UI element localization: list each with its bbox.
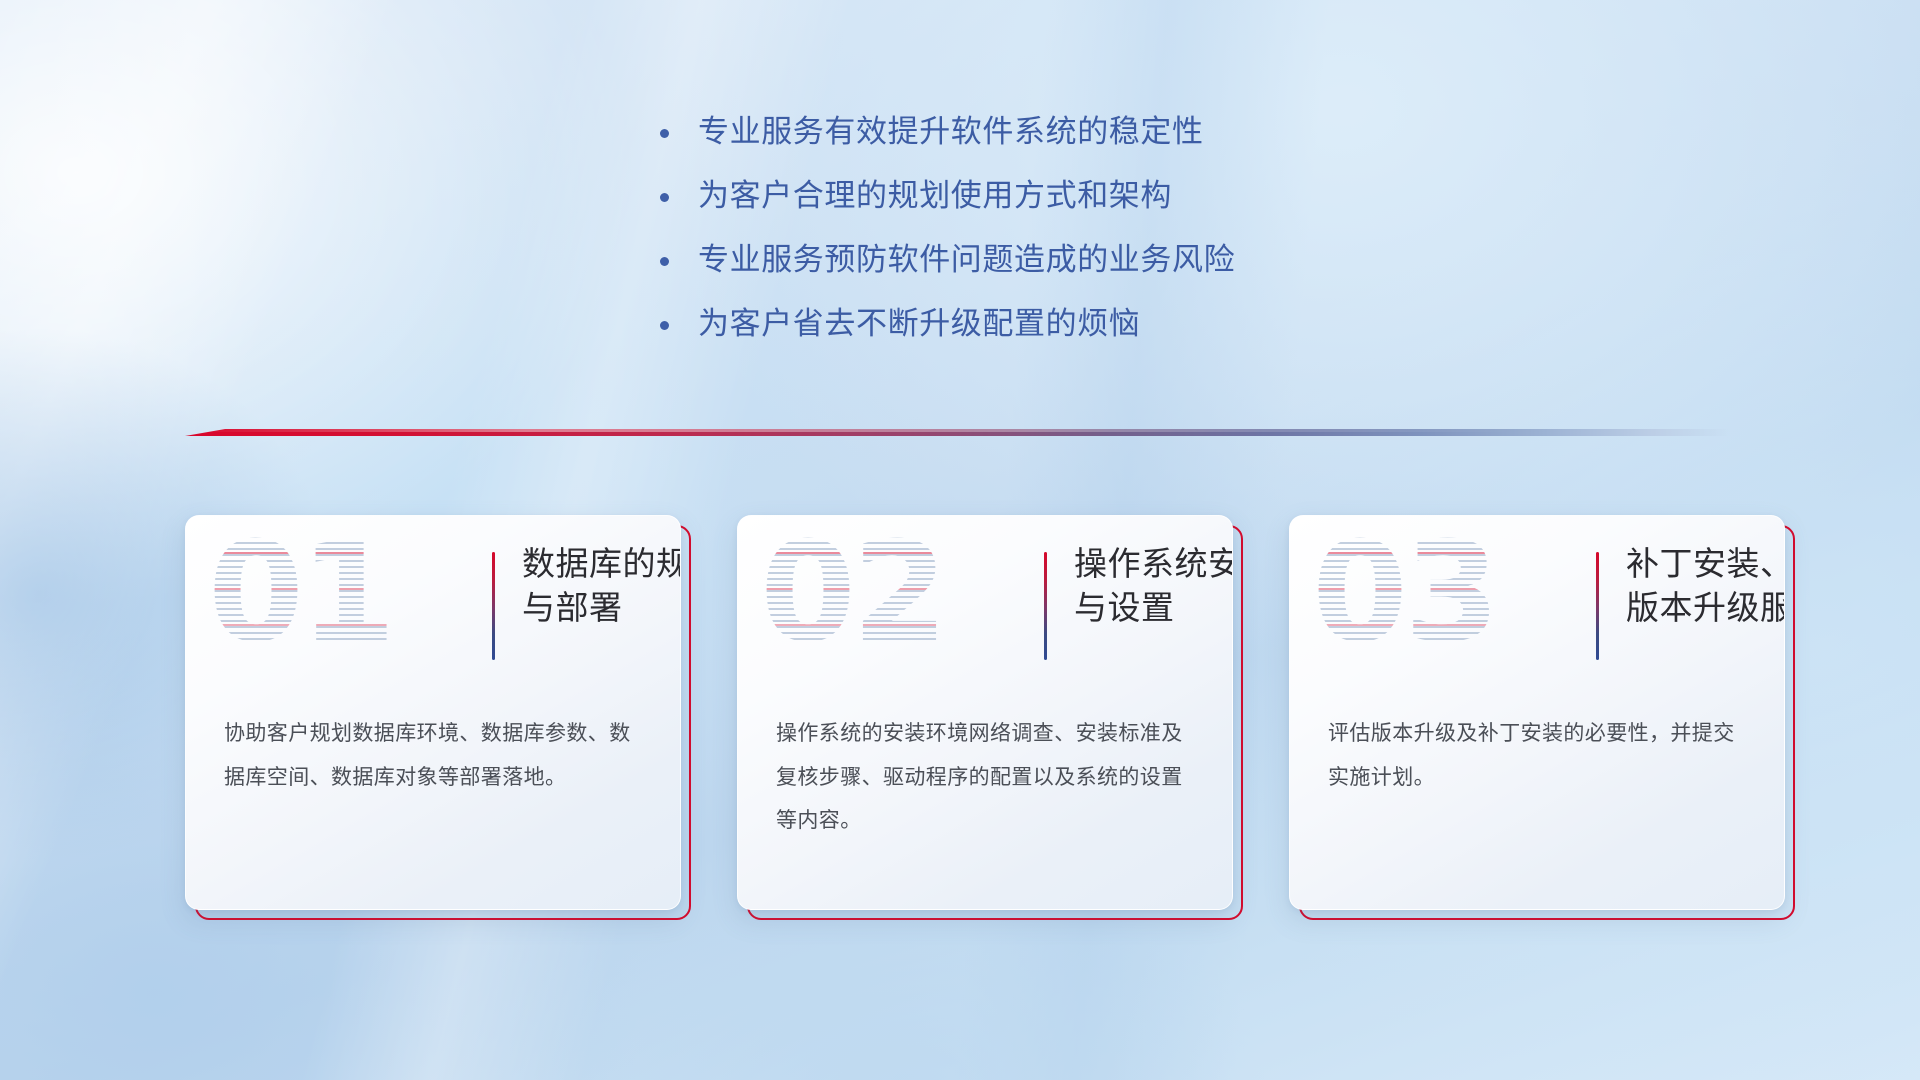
- title-divider-icon: [492, 552, 495, 660]
- title-divider-icon: [1596, 552, 1599, 660]
- section-divider: [185, 424, 1730, 442]
- bullet-dot-icon: [660, 193, 669, 202]
- bullet-text: 专业服务预防软件问题造成的业务风险: [698, 240, 1235, 279]
- card-description: 协助客户规划数据库环境、数据库参数、数据库空间、数据库对象等部署落地。: [224, 712, 644, 799]
- card-description: 操作系统的安装环境网络调查、安装标准及复核步骤、驱动程序的配置以及系统的设置等内…: [776, 712, 1196, 843]
- bullet-text: 专业服务有效提升软件系统的稳定性: [698, 112, 1204, 151]
- card-number-ghost-accent: 01: [208, 524, 392, 662]
- card-header: 03 03 补丁安装、小版本升级服务: [1290, 516, 1784, 698]
- service-card[interactable]: 02 02 操作系统安装与设置 操作系统的安装环境网络调查、安装标准及复核步骤、…: [737, 515, 1233, 910]
- card-header: 01 01 数据库的规划与部署: [186, 516, 680, 698]
- list-item: 专业服务有效提升软件系统的稳定性: [660, 112, 1235, 151]
- card-surface: 01 01 数据库的规划与部署 协助客户规划数据库环境、数据库参数、数据库空间、…: [185, 515, 681, 910]
- bullet-text: 为客户省去不断升级配置的烦恼: [698, 304, 1140, 343]
- service-card[interactable]: 03 03 补丁安装、小版本升级服务 评估版本升级及补丁安装的必要性，并提交实施…: [1289, 515, 1785, 910]
- slide-canvas: 专业服务有效提升软件系统的稳定性 为客户合理的规划使用方式和架构 专业服务预防软…: [0, 0, 1920, 1080]
- list-item: 为客户省去不断升级配置的烦恼: [660, 304, 1235, 343]
- benefits-bullet-list: 专业服务有效提升软件系统的稳定性 为客户合理的规划使用方式和架构 专业服务预防软…: [660, 112, 1235, 368]
- card-title: 数据库的规划与部署: [522, 542, 681, 629]
- bullet-dot-icon: [660, 321, 669, 330]
- title-divider-icon: [1044, 552, 1047, 660]
- card-title: 操作系统安装与设置: [1074, 542, 1233, 629]
- card-title: 补丁安装、小版本升级服务: [1626, 542, 1785, 629]
- card-surface: 02 02 操作系统安装与设置 操作系统的安装环境网络调查、安装标准及复核步骤、…: [737, 515, 1233, 910]
- service-card-row: 01 01 数据库的规划与部署 协助客户规划数据库环境、数据库参数、数据库空间、…: [185, 515, 1785, 910]
- card-description: 评估版本升级及补丁安装的必要性，并提交实施计划。: [1328, 712, 1748, 799]
- bullet-dot-icon: [660, 129, 669, 138]
- service-card[interactable]: 01 01 数据库的规划与部署 协助客户规划数据库环境、数据库参数、数据库空间、…: [185, 515, 681, 910]
- bullet-text: 为客户合理的规划使用方式和架构: [698, 176, 1172, 215]
- bullet-dot-icon: [660, 257, 669, 266]
- card-number-ghost-accent: 02: [760, 524, 944, 662]
- list-item: 专业服务预防软件问题造成的业务风险: [660, 240, 1235, 279]
- card-header: 02 02 操作系统安装与设置: [738, 516, 1232, 698]
- card-number-ghost-accent: 03: [1312, 524, 1496, 662]
- divider-highlight: [185, 429, 1730, 432]
- card-surface: 03 03 补丁安装、小版本升级服务 评估版本升级及补丁安装的必要性，并提交实施…: [1289, 515, 1785, 910]
- list-item: 为客户合理的规划使用方式和架构: [660, 176, 1235, 215]
